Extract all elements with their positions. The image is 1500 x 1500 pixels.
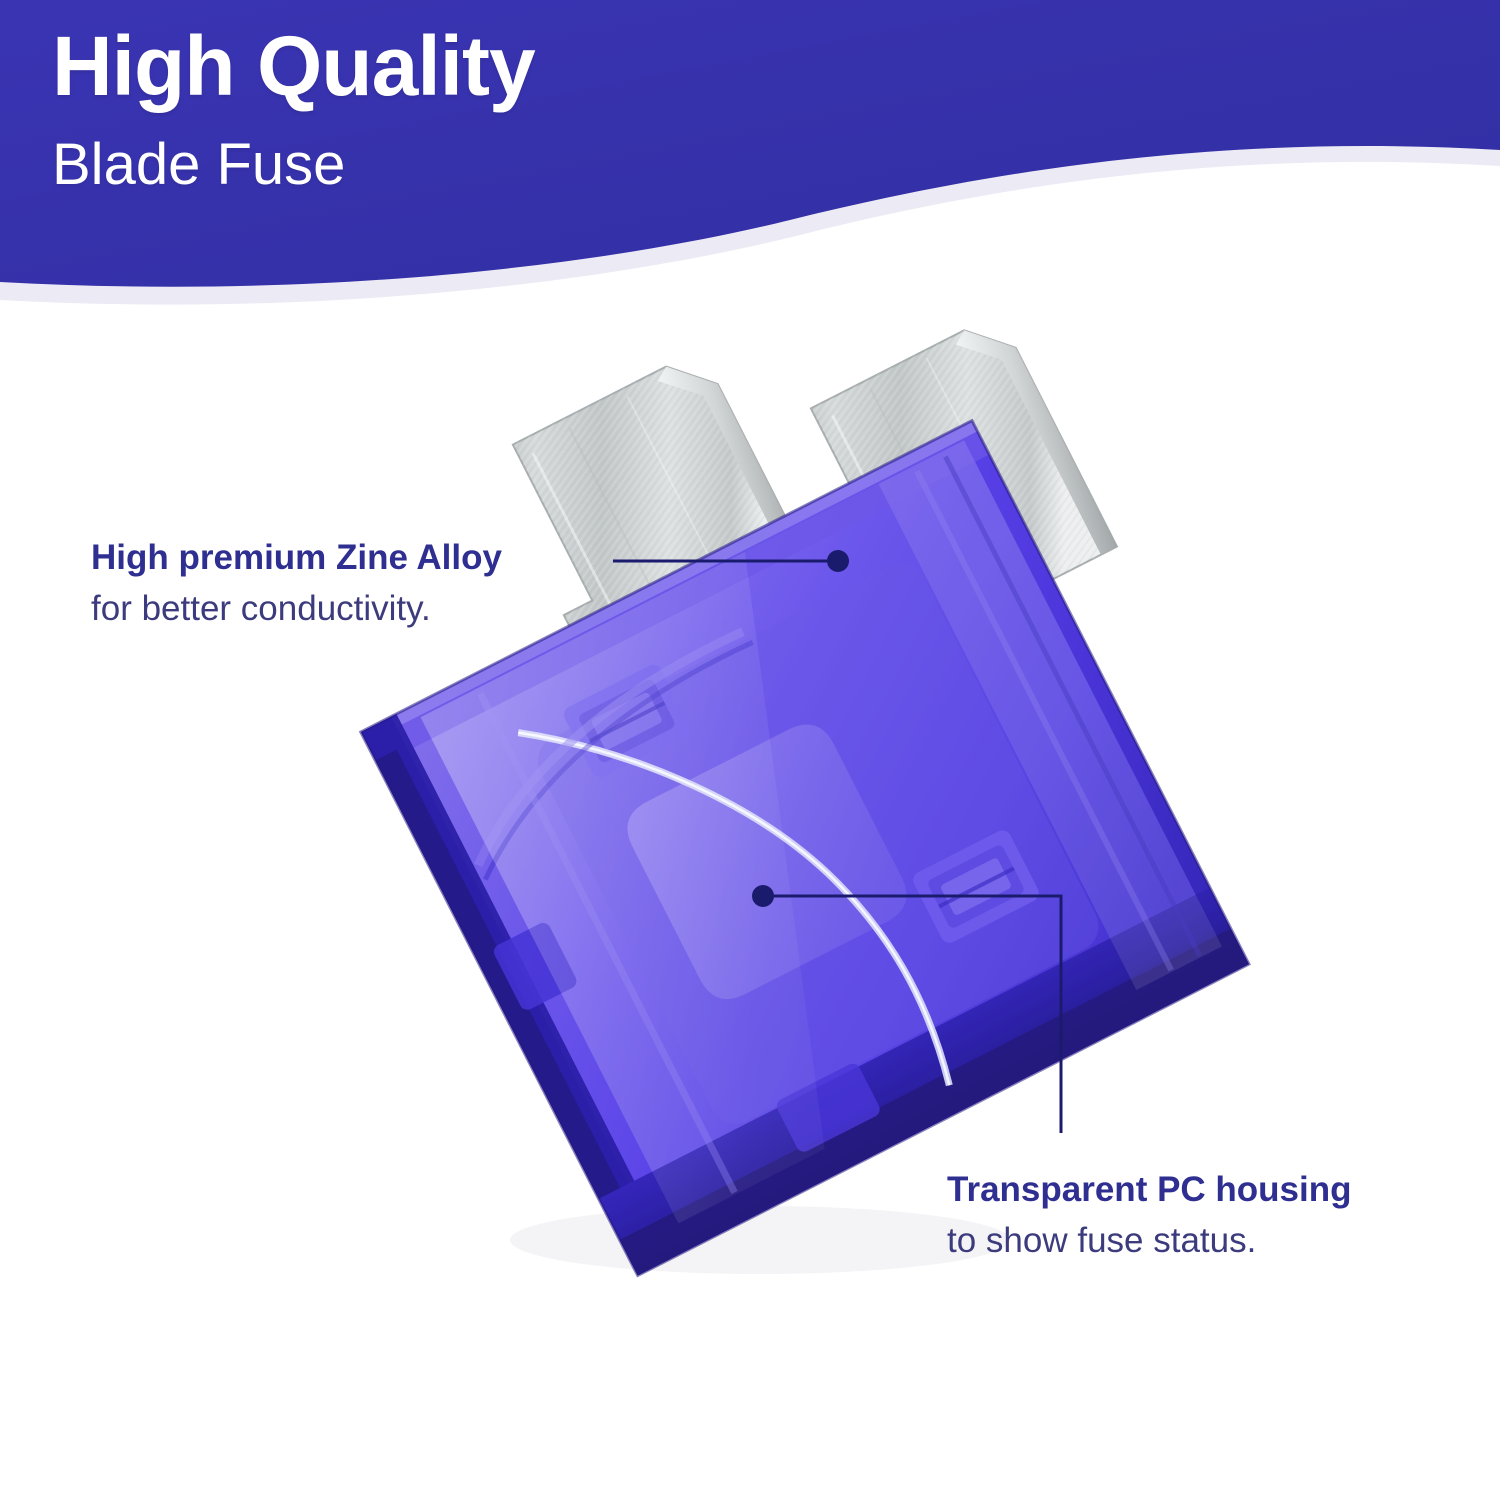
- callout-pc-housing-heading: Transparent PC housing: [947, 1168, 1352, 1212]
- callout-pc-housing-body: to show fuse status.: [947, 1218, 1352, 1264]
- callout-zinc-alloy-heading: High premium Zine Alloy: [91, 536, 502, 580]
- fuse-assembly: [276, 221, 1313, 1275]
- callout-zinc-alloy: High premium Zine Alloy for better condu…: [91, 536, 502, 631]
- callout-pc-housing: Transparent PC housing to show fuse stat…: [947, 1168, 1352, 1263]
- product-image-blade-fuse: [0, 0, 1500, 1500]
- product-shadow: [510, 1206, 1010, 1274]
- callout-zinc-alloy-body: for better conductivity.: [91, 586, 502, 632]
